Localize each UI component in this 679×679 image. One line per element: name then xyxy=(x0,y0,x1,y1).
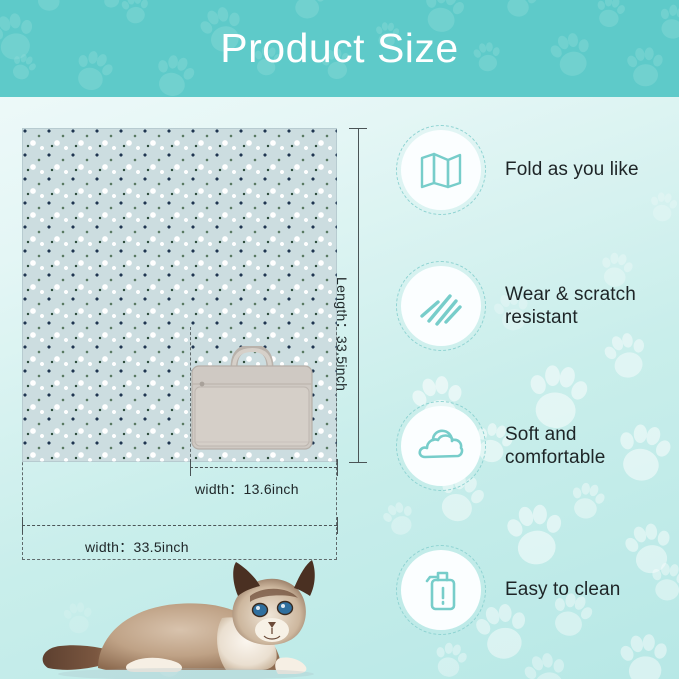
feature-item-easy-clean: Easy to clean xyxy=(390,540,679,640)
length-dimension-label: Length：33.5inch xyxy=(332,277,352,391)
page-title: Product Size xyxy=(0,0,679,97)
inner-width-dimension-line xyxy=(190,467,337,468)
feature-badge-soft xyxy=(396,401,486,491)
header-banner: Product Size xyxy=(0,0,679,97)
length-dimension-line xyxy=(358,128,359,462)
feature-badge-wear-scratch xyxy=(396,261,486,351)
folded-map-icon xyxy=(418,150,464,190)
length-dimension-cap-top xyxy=(349,128,367,129)
length-dimension-cap-bottom xyxy=(349,462,367,463)
badge-disc xyxy=(401,266,481,346)
outer-width-dimension-line xyxy=(22,525,337,526)
feature-list: Fold as you like Wear & scratch re xyxy=(390,120,679,665)
inner-width-cap-right xyxy=(337,459,338,476)
inner-width-dimension-label: width：13.6inch xyxy=(195,479,299,499)
cloud-icon xyxy=(417,426,465,466)
outer-width-cap-left xyxy=(22,517,23,534)
badge-disc xyxy=(401,550,481,630)
feature-label-easy-clean: Easy to clean xyxy=(505,578,620,601)
feature-item-fold: Fold as you like xyxy=(390,120,679,220)
inner-width-cap-left xyxy=(190,459,191,476)
badge-disc xyxy=(401,406,481,486)
size-diagram: Length：33.5inch width：13.6inch width：33.… xyxy=(0,97,390,679)
feature-item-soft: Soft and comfortable xyxy=(390,396,679,496)
feature-label-fold: Fold as you like xyxy=(505,158,639,181)
feature-item-wear-scratch: Wear & scratch resistant xyxy=(390,256,679,356)
feature-badge-fold xyxy=(396,125,486,215)
ragdoll-cat-photo xyxy=(36,552,366,679)
badge-disc xyxy=(401,130,481,210)
laptop-sleeve xyxy=(190,346,314,451)
feature-badge-easy-clean xyxy=(396,545,486,635)
feature-label-soft: Soft and comfortable xyxy=(505,423,679,469)
outer-width-cap-right xyxy=(337,517,338,534)
detergent-bottle-icon xyxy=(420,568,462,612)
product-size-infographic: Product Size Length：33.5inch width： xyxy=(0,0,679,679)
feature-label-wear-scratch: Wear & scratch resistant xyxy=(505,283,679,329)
scratch-lines-icon xyxy=(418,284,464,328)
